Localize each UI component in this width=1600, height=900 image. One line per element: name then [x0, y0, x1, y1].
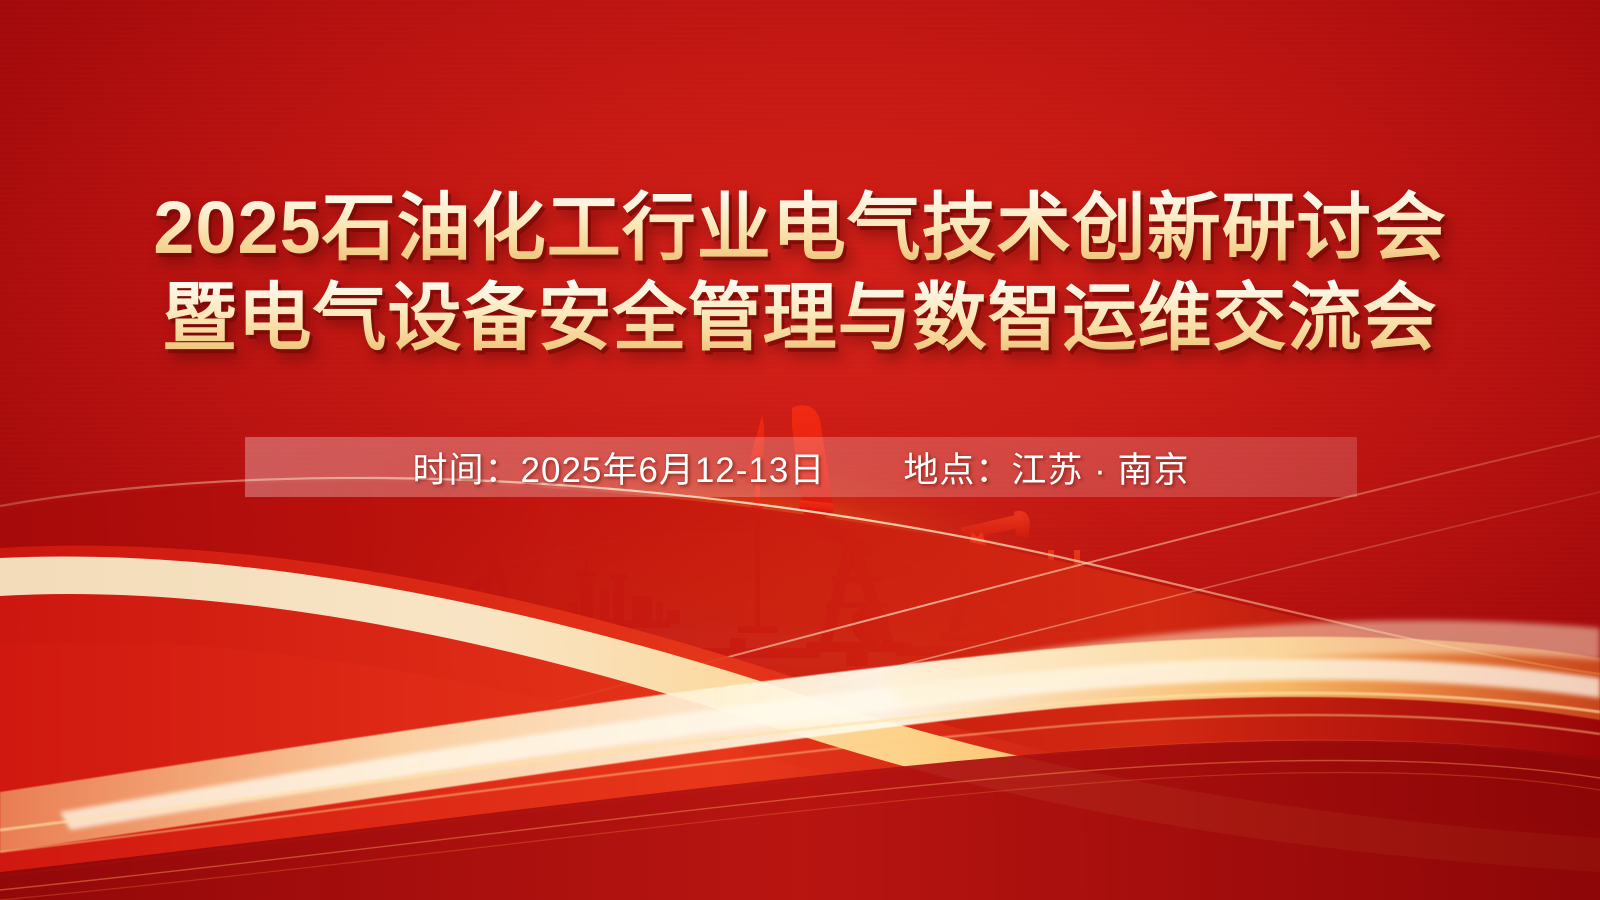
- event-meta-bar: 时间：2025年6月12-13日 地点：江苏 · 南京: [245, 437, 1357, 497]
- banner-content: 2025石油化工行业电气技术创新研讨会 暨电气设备安全管理与数智运维交流会 时间…: [0, 0, 1600, 900]
- conference-title: 2025石油化工行业电气技术创新研讨会 暨电气设备安全管理与数智运维交流会: [153, 186, 1447, 360]
- event-date: 时间：2025年6月12-13日: [413, 442, 826, 493]
- conference-banner: 2025石油化工行业电气技术创新研讨会 暨电气设备安全管理与数智运维交流会 时间…: [0, 0, 1600, 900]
- title-line-2: 暨电气设备安全管理与数智运维交流会: [153, 276, 1447, 360]
- event-location: 地点：江苏 · 南京: [903, 442, 1189, 493]
- title-line-1: 2025石油化工行业电气技术创新研讨会: [153, 186, 1447, 270]
